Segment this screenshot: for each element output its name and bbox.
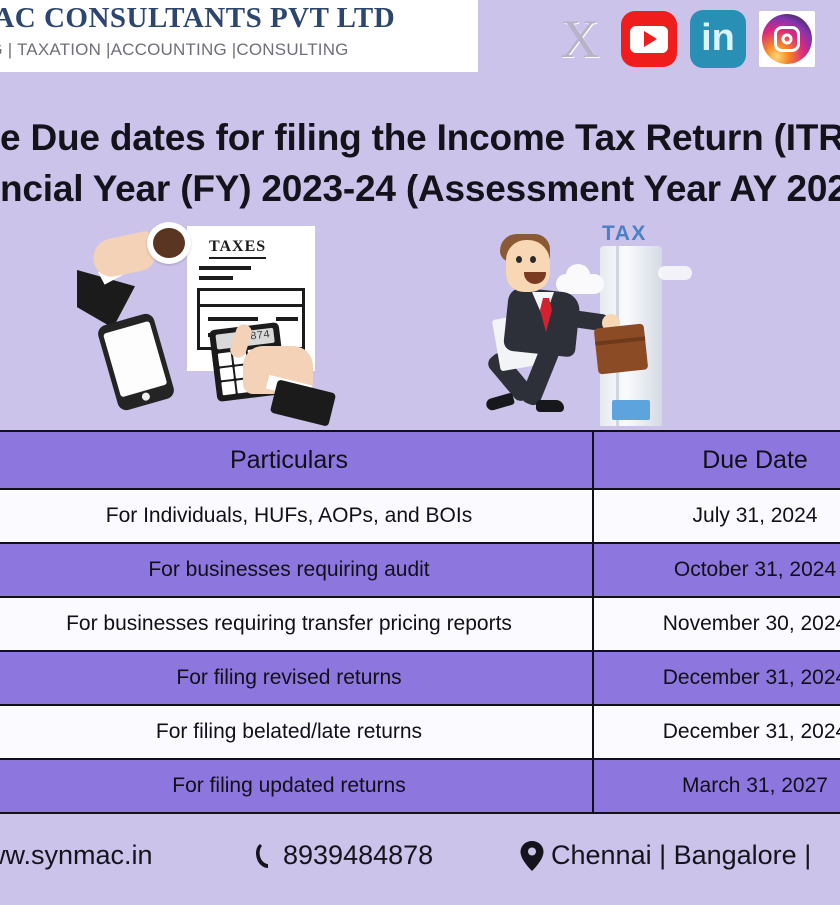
table-header-row: Particulars Due Date [0,431,840,489]
locations-text: Chennai | Bangalore | [551,840,811,871]
x-twitter-icon[interactable]: X [552,11,608,67]
x-twitter-glyph: X [561,12,600,66]
table-row: For filing revised returns December 31, … [0,651,840,705]
smartphone [96,312,176,413]
table-header: Particulars Due Date [0,431,840,489]
column-header-due-date: Due Date [593,431,840,489]
cell-due-date: March 31, 2027 [593,759,840,813]
cell-due-date: October 31, 2024 [593,543,840,597]
column-header-particulars: Particulars [0,431,593,489]
businessman-eye [516,256,522,263]
tax-document-label: TAXES [209,238,266,259]
cell-particulars: For filing updated returns [0,759,593,813]
illustration-row: TAXES 874 [0,218,840,428]
table-row: For businesses requiring transfer pricin… [0,597,840,651]
cell-particulars: For businesses requiring audit [0,543,593,597]
taxes-desk-illustration: TAXES 874 [85,218,340,428]
instagram-icon[interactable] [759,11,815,67]
cloud-icon [556,274,604,294]
table-row: For filing belated/late returns December… [0,705,840,759]
linkedin-glyph: in [701,19,735,57]
cell-particulars: For filing revised returns [0,651,593,705]
building-entrance [612,400,650,420]
location-pin-icon [520,841,544,871]
table-row: For filing updated returns March 31, 202… [0,759,840,813]
calculator-key [220,367,234,381]
doc-text-line [199,276,233,280]
businessman-eye [530,256,536,263]
linkedin-icon[interactable]: in [690,10,746,68]
company-name: NMAC CONSULTANTS PVT LTD [0,2,395,35]
doc-text-line [199,266,251,270]
coffee-cup [147,222,191,264]
cell-particulars: For Individuals, HUFs, AOPs, and BOIs [0,489,593,543]
instagram-disc [762,14,812,64]
cell-particulars: For businesses requiring transfer pricin… [0,597,593,651]
suit-sleeve-lower [270,379,336,427]
phone-number: 8939484878 [283,840,433,871]
businessman-head [506,240,550,292]
cell-particulars: For filing belated/late returns [0,705,593,759]
businessman-running-illustration: TAX [478,218,698,430]
cell-due-date: November 30, 2024 [593,597,840,651]
instagram-camera-glyph [774,26,800,52]
footer-website[interactable]: ww.synmac.in [0,840,153,871]
company-logo-box: NMAC CONSULTANTS PVT LTD DITING | TAXATI… [0,0,478,72]
title-line-2: ncial Year (FY) 2023-24 (Assessment Year… [0,163,840,214]
tax-building-label: TAX [602,222,647,246]
table-body: For Individuals, HUFs, AOPs, and BOIs Ju… [0,489,840,813]
phone-icon [254,843,276,869]
company-tagline: DITING | TAXATION |ACCOUNTING |CONSULTIN… [0,40,349,60]
briefcase [594,324,649,375]
youtube-icon[interactable] [621,11,677,67]
poster-title: e Due dates for filing the Income Tax Re… [0,112,840,214]
doc-table-rule [200,304,302,307]
doc-text-line [208,317,258,321]
businessman-front-shoe [536,400,564,412]
calculator-key [218,352,232,366]
social-links: X in [552,10,815,68]
website-text: ww.synmac.in [0,840,153,871]
footer-bar: ww.synmac.in 8939484878 Chennai | Bangal… [0,825,840,905]
doc-text-line [276,317,298,321]
youtube-play-triangle [644,31,657,47]
title-line-1: e Due dates for filing the Income Tax Re… [0,112,840,163]
cell-due-date: December 31, 2024 [593,651,840,705]
footer-locations: Chennai | Bangalore | [520,840,811,871]
businessman-back-shoe [485,392,515,411]
poster-canvas: NMAC CONSULTANTS PVT LTD DITING | TAXATI… [0,0,840,905]
cell-due-date: December 31, 2024 [593,705,840,759]
youtube-play-plate [630,26,668,53]
phone-home-button [141,392,151,402]
calculator-key [221,381,235,395]
cell-due-date: July 31, 2024 [593,489,840,543]
due-dates-table: Particulars Due Date For Individuals, HU… [0,430,840,814]
table-row: For Individuals, HUFs, AOPs, and BOIs Ju… [0,489,840,543]
table-row: For businesses requiring audit October 3… [0,543,840,597]
cloud-icon [658,266,692,280]
footer-phone[interactable]: 8939484878 [254,840,433,871]
header-band: NMAC CONSULTANTS PVT LTD DITING | TAXATI… [0,0,840,80]
